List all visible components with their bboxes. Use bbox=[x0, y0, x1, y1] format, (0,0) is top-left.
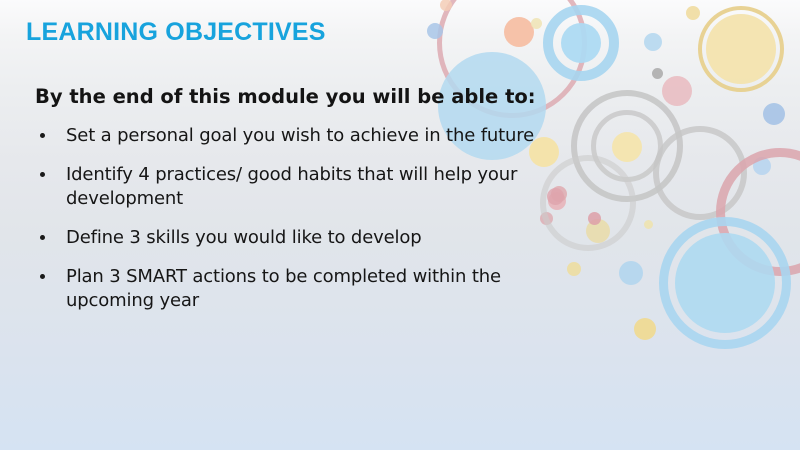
blue-ring-target-shape bbox=[543, 5, 619, 81]
peach-dot-tiny-shape bbox=[440, 0, 452, 11]
slide-body: By the end of this module you will be ab… bbox=[30, 86, 570, 312]
yellow-ring-topright-shape bbox=[698, 6, 784, 92]
bullet-dot-icon bbox=[40, 235, 45, 240]
lead-text: By the end of this module you will be ab… bbox=[35, 86, 570, 108]
peach-dot-shape bbox=[504, 17, 534, 47]
list-item-label: Define 3 skills you would like to develo… bbox=[66, 226, 570, 249]
bullet-dot-icon bbox=[40, 133, 45, 138]
blue-circle-bottomright-shape bbox=[675, 233, 775, 333]
gray-dot-tiny-shape bbox=[652, 68, 663, 79]
gray-ring-right-shape bbox=[653, 126, 747, 220]
bullet-dot-icon bbox=[40, 274, 45, 279]
pink-dot-mid-shape bbox=[662, 76, 692, 106]
list-item: Identify 4 practices/ good habits that w… bbox=[30, 163, 570, 210]
blue-dot-right-mid-shape bbox=[753, 157, 771, 175]
gray-ring-inner-shape bbox=[591, 110, 663, 182]
objectives-list: Set a personal goal you wish to achieve … bbox=[30, 124, 570, 312]
yellow-dot-tiny-low-shape bbox=[644, 220, 653, 229]
list-item: Plan 3 SMART actions to be completed wit… bbox=[30, 265, 570, 312]
pink-dot-low-shape bbox=[588, 212, 601, 225]
bullet-dot-icon bbox=[40, 172, 45, 177]
blue-dot-small-b-shape bbox=[644, 33, 662, 51]
blue-dot-target-shape bbox=[561, 23, 601, 63]
list-item: Set a personal goal you wish to achieve … bbox=[30, 124, 570, 147]
yellow-dot-tiny-a-shape bbox=[531, 18, 542, 29]
blue-dot-low-shape bbox=[619, 261, 643, 285]
yellow-dot-low-a-shape bbox=[586, 219, 610, 243]
blue-dot-small-a-shape bbox=[427, 23, 443, 39]
gray-ring-outer-shape bbox=[571, 90, 683, 202]
rose-ring-bottomright-shape bbox=[716, 148, 800, 276]
list-item-label: Identify 4 practices/ good habits that w… bbox=[66, 163, 570, 210]
yellow-circle-topright-shape bbox=[706, 14, 776, 84]
blue-dot-right-edge-shape bbox=[763, 103, 785, 125]
list-item-label: Plan 3 SMART actions to be completed wit… bbox=[66, 265, 570, 312]
yellow-dot-center-shape bbox=[612, 132, 642, 162]
yellow-dot-tiny-b-shape bbox=[686, 6, 700, 20]
yellow-dot-low-c-shape bbox=[634, 318, 656, 340]
list-item-label: Set a personal goal you wish to achieve … bbox=[66, 124, 570, 147]
page-title: LEARNING OBJECTIVES bbox=[26, 18, 326, 47]
blue-ring-bottomright-shape bbox=[659, 217, 791, 349]
list-item: Define 3 skills you would like to develo… bbox=[30, 226, 570, 249]
slide: LEARNING OBJECTIVES By the end of this m… bbox=[0, 0, 800, 450]
